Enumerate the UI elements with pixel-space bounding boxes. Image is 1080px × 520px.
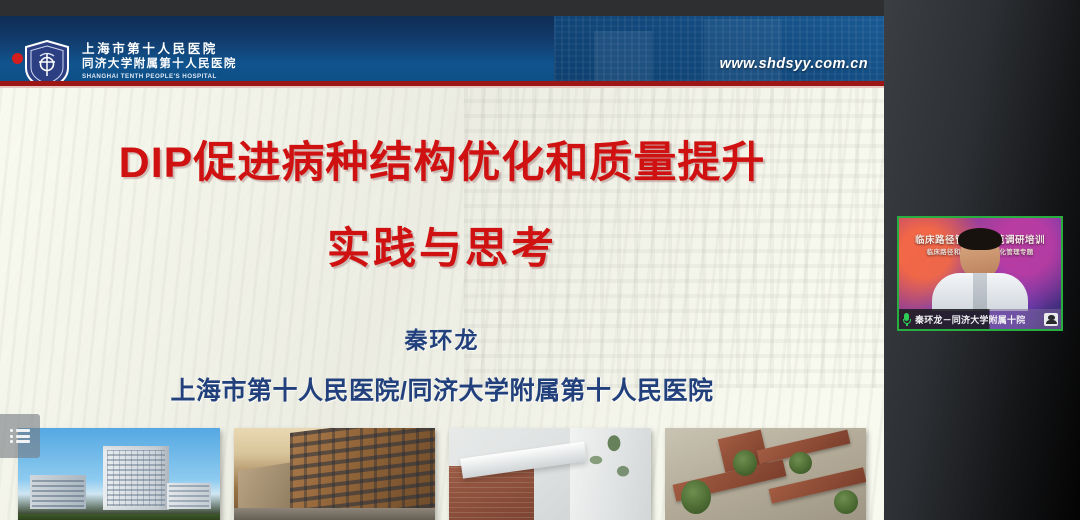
pin-participant-icon[interactable]	[1044, 313, 1058, 326]
slide-photo-strip	[18, 428, 866, 520]
list-menu-button[interactable]	[0, 414, 40, 458]
logo-english-line-1: SHANGHAI TENTH PEOPLE'S HOSPITAL	[82, 73, 261, 81]
slide-photo	[234, 428, 436, 520]
header-rule-highlight	[0, 86, 884, 88]
window-top-bar	[0, 0, 884, 16]
speaker-figure	[932, 231, 1028, 311]
participant-video-tile[interactable]: 临床路径管理与规范调研培训 临床路径和DIP下的精细化管理专题 秦环龙－同济大学…	[897, 216, 1063, 331]
hospital-website-url: www.shdsyy.com.cn	[720, 56, 868, 72]
slide-photo	[665, 428, 867, 520]
logo-chinese-line-2: 同济大学附属第十人民医院	[82, 57, 261, 72]
slide-title-line-2: 实践与思考	[0, 214, 884, 276]
logo-chinese-line-1: 上海市第十人民医院	[82, 42, 261, 57]
hospital-logo-text: 上海市第十人民医院 同济大学附属第十人民医院 SHANGHAI TENTH PE…	[82, 42, 261, 81]
presentation-slide: 上海市第十人民医院 同济大学附属第十人民医院 SHANGHAI TENTH PE…	[0, 16, 884, 520]
participant-name-bar: 秦环龙－同济大学附属十院	[899, 309, 1061, 329]
hospital-shield-logo-icon	[24, 40, 70, 81]
slide-presenter-name: 秦环龙	[0, 321, 884, 355]
slide-title-line-1: DIP促进病种结构优化和质量提升	[0, 128, 884, 190]
participant-name-label: 秦环龙－同济大学附属十院	[915, 313, 1025, 326]
red-dot-accent	[12, 53, 23, 64]
slide-photo	[449, 428, 651, 520]
slide-affiliation: 上海市第十人民医院/同济大学附属第十人民医院	[0, 371, 884, 407]
meeting-window: 上海市第十人民医院 同济大学附属第十人民医院 SHANGHAI TENTH PE…	[0, 0, 1080, 520]
slide-header: 上海市第十人民医院 同济大学附属第十人民医院 SHANGHAI TENTH PE…	[0, 16, 884, 81]
slide-photo	[18, 428, 220, 520]
microphone-icon[interactable]	[902, 313, 911, 326]
